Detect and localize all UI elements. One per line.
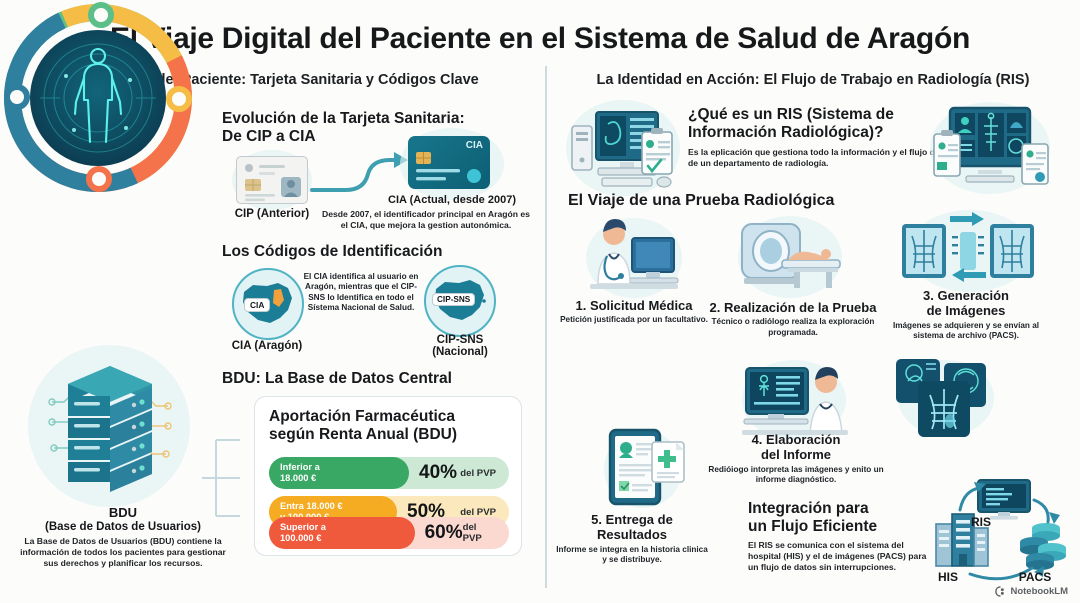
xray-stack-icon bbox=[890, 355, 1010, 443]
bdu-tier-fill: Inferior a 18.000 € bbox=[269, 457, 409, 489]
bdu-server-note: La Base de Datos de Usuarios (BDU) conti… bbox=[12, 536, 234, 568]
section-header-right: La Identidad en Acción: El Flujo de Trab… bbox=[546, 72, 1080, 88]
cia-card-illustration: CIA bbox=[408, 136, 490, 189]
ring-knob-right bbox=[166, 86, 192, 112]
notebooklm-logo-icon bbox=[995, 586, 1006, 597]
codes-heading: Los Códigos de Identificación bbox=[222, 243, 522, 261]
bdu-server-subtitle: (Base de Datos de Usuarios) bbox=[12, 521, 234, 533]
map-tag-cia: CIA bbox=[244, 298, 270, 312]
step-3-desc: Imágenes se adquieren y se envían al sis… bbox=[890, 321, 1042, 342]
bdu-heading: BDU: La Base de Datos Central bbox=[222, 370, 532, 388]
ris-node-icon bbox=[978, 480, 1030, 520]
bdu-tier-percent: 40% bbox=[419, 462, 457, 484]
ring-knob-bottom bbox=[86, 166, 112, 192]
ris-workstation-icon bbox=[568, 104, 680, 196]
step4-radiologist-icon bbox=[740, 360, 850, 440]
ris-viewer-icon bbox=[932, 104, 1050, 196]
node-label-pacs: PACS bbox=[1008, 570, 1062, 584]
watermark-label: NotebookLM bbox=[1010, 586, 1068, 597]
map-label-aragon: CIA (Aragón) bbox=[214, 340, 320, 352]
map-label-nacional: CIP-SNS (Nacional) bbox=[408, 334, 512, 358]
pacs-node-icon bbox=[1020, 523, 1066, 570]
cia-card-chip-label: CIA bbox=[466, 140, 483, 151]
step-2: 2. Realización de la Prueba Técnico o ra… bbox=[700, 300, 886, 338]
ring-knob-left bbox=[4, 84, 30, 110]
bdu-tier-fill: Superior a 100.000 € bbox=[269, 517, 415, 549]
column-divider bbox=[545, 66, 547, 588]
step-5-desc: Informe se integra en la historia clinic… bbox=[554, 545, 710, 566]
integration-description: El RIS se comunica con el sistema del ho… bbox=[748, 540, 936, 572]
step-1: 1. Solicitud Médica Petición justificada… bbox=[558, 298, 710, 326]
step-2-desc: Técnico o radiólogo realiza la exploraci… bbox=[700, 317, 886, 338]
bdu-tier-suffix: del PVP bbox=[460, 507, 496, 518]
step-2-title: 2. Realización de la Prueba bbox=[700, 300, 886, 315]
step-1-desc: Petición justificada por un facultativo. bbox=[558, 315, 710, 325]
ring-knob-top bbox=[88, 2, 114, 28]
step5-results-icon bbox=[600, 428, 690, 510]
evolution-note: Desde 2007, el identificador principal e… bbox=[320, 209, 532, 231]
map-circle-aragon: CIA bbox=[232, 268, 304, 340]
map-circle-nacional: CIP-SNS bbox=[424, 265, 496, 337]
step-5-title: 5. Entrega de Resultados bbox=[554, 512, 710, 543]
journey-heading: El Viaje de una Prueba Radiológica bbox=[568, 192, 898, 211]
step-5: 5. Entrega de Resultados Informe se inte… bbox=[554, 512, 710, 565]
step-3: 3. Generación de Imágenes Imágenes se ad… bbox=[890, 288, 1042, 341]
cip-card-label: CIP (Anterior) bbox=[226, 208, 318, 220]
cip-card-illustration bbox=[236, 156, 308, 204]
step-4-desc: Redióiogo intorpreta las imágenes y enit… bbox=[706, 465, 886, 486]
bdu-tier-suffix: del PVP bbox=[460, 468, 496, 479]
step3-xray-transfer-icon bbox=[898, 212, 1038, 292]
cip-card-icon bbox=[237, 157, 309, 205]
step1-doctor-icon bbox=[584, 218, 684, 298]
bdu-panel: Aportación Farmacéutica según Renta Anua… bbox=[254, 396, 522, 556]
integration-heading: Integración para un Flujo Eficiente bbox=[748, 500, 936, 536]
bdu-tier-percent: 60% bbox=[425, 522, 463, 544]
map-tag-cip-sns: CIP-SNS bbox=[432, 293, 475, 306]
bdu-tier-row: Inferior a 18.000 € 40% del PVP bbox=[269, 457, 509, 489]
bdu-tier-row: Superior a 100.000 € 60% del PVP bbox=[269, 517, 509, 549]
cia-card-label: CIA (Actual, desde 2007) bbox=[372, 194, 532, 206]
infographic-root: El Viaje Digital del Paciente en el Sist… bbox=[0, 0, 1080, 603]
step-4-title: 4. Elaboración del Informe bbox=[706, 432, 886, 463]
step-1-title: 1. Solicitud Médica bbox=[558, 298, 710, 313]
human-body-icon bbox=[30, 30, 166, 166]
bdu-panel-title: Aportación Farmacéutica según Renta Anua… bbox=[269, 408, 509, 444]
bdu-tier-label: Inferior a 18.000 € bbox=[280, 462, 320, 483]
bdu-server-icon bbox=[48, 358, 172, 500]
bdu-server-caption: BDU (Base de Datos de Usuarios) La Base … bbox=[12, 505, 234, 568]
step-4: 4. Elaboración del Informe Redióiogo int… bbox=[706, 432, 886, 485]
integration-block: Integración para un Flujo Eficiente El R… bbox=[748, 500, 936, 572]
codes-description: El CIA identifica al usuario en Aragón, … bbox=[302, 272, 420, 313]
bdu-tier-label: Superior a 100.000 € bbox=[280, 522, 326, 543]
bdu-server-title: BDU bbox=[12, 505, 234, 520]
step-3-title: 3. Generación de Imágenes bbox=[890, 288, 1042, 319]
step2-mri-icon bbox=[736, 216, 846, 298]
node-label-ris: RIS bbox=[960, 515, 1002, 529]
watermark: NotebookLM bbox=[995, 586, 1068, 597]
human-core-circle bbox=[30, 30, 166, 166]
node-label-his: HIS bbox=[928, 570, 968, 584]
bdu-tier-suffix: del PVP bbox=[463, 522, 496, 544]
